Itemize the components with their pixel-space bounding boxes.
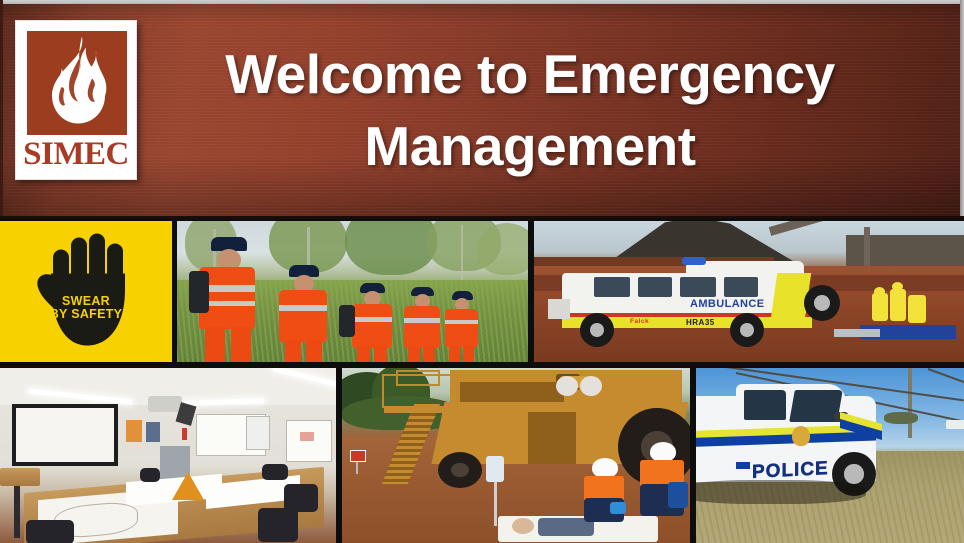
image-gallery: SWEAR BY SAFETY: [0, 219, 964, 543]
worker-torso: [352, 304, 392, 348]
ambulance-wheel: [730, 313, 764, 347]
ambulance-window: [638, 277, 672, 297]
flame-icon: [38, 35, 116, 132]
rescue-worker: [349, 283, 397, 362]
spare-wheel: [804, 285, 840, 321]
safety-helmet: [650, 442, 676, 462]
worker-leg: [463, 345, 474, 362]
safety-poster-background: SWEAR BY SAFETY: [0, 221, 172, 362]
worker-leg: [306, 340, 322, 362]
worker-leg: [205, 327, 225, 362]
table-leg: [14, 486, 20, 538]
rescue-worker: [443, 291, 483, 362]
tree-shape: [345, 221, 437, 275]
gallery-item-mine-rescue-haul-truck: [342, 368, 690, 543]
ambulance-window: [680, 277, 716, 297]
sign-post: [356, 462, 358, 474]
backpack: [189, 271, 209, 313]
backpack: [339, 305, 355, 337]
gallery-item-swear-by-safety: SWEAR BY SAFETY: [0, 221, 172, 362]
simec-wordmark: SIMEC: [16, 137, 136, 171]
gallery-item-police-vehicle: POLICE: [696, 368, 964, 543]
hi-vis-band: [404, 318, 440, 323]
gallery-item-mine-site-ambulance: AMBULANCE HRA35 Falck: [534, 221, 964, 362]
warning-sign: [350, 450, 366, 462]
wall-poster: [126, 420, 142, 442]
ambulance-unit-id: HRA35: [686, 318, 715, 327]
police-badge: [792, 426, 810, 446]
medical-kit: [668, 482, 688, 508]
worker-leg: [285, 340, 301, 362]
safety-helmet: [592, 458, 618, 478]
handrail: [396, 370, 440, 386]
vehicle-shadow: [696, 480, 866, 504]
slide-title: Welcome to Emergency Management: [160, 22, 900, 197]
hand-stop-icon: [27, 229, 145, 354]
hi-vis-band: [445, 320, 478, 324]
conveyor-belt: [769, 221, 935, 236]
worker-leg: [357, 346, 370, 362]
distant-tree: [884, 412, 918, 424]
worker-leg: [423, 346, 435, 362]
simec-logo: SIMEC: [15, 20, 137, 180]
office-chair: [140, 468, 160, 482]
ceiling-projector: [148, 396, 182, 412]
slide-header: SIMEC Welcome to Emergency Management: [0, 0, 964, 219]
fire-extinguisher-sign: [182, 428, 187, 440]
hi-vis-band: [352, 317, 392, 322]
paramedic: [908, 295, 926, 323]
header-left-border: [0, 0, 3, 219]
ambulance-operator-logo: Falck: [630, 318, 649, 325]
power-line: [928, 368, 964, 411]
haul-truck-step-panel: [528, 412, 576, 464]
mine-site-scene: AMBULANCE HRA35 Falck: [534, 221, 964, 362]
worker-leg: [374, 346, 387, 362]
safety-slogan-line2: BY SAFETY: [50, 308, 123, 321]
cab-rear-window: [744, 390, 786, 420]
office-chair: [258, 508, 298, 542]
rescue-worker: [275, 265, 335, 362]
headlight: [580, 376, 602, 396]
mine-rescue-medic: [580, 458, 628, 522]
side-table: [0, 468, 40, 486]
distant-vehicle: [946, 420, 964, 429]
police-vehicle-scene: POLICE: [696, 368, 964, 543]
presentation-slide: SIMEC Welcome to Emergency Management: [0, 0, 964, 543]
worker-leg: [231, 327, 251, 362]
ambulance-lettering: AMBULANCE: [690, 298, 764, 310]
tree-trunk: [461, 225, 463, 283]
headlight: [556, 376, 578, 396]
wall-poster: [146, 422, 160, 442]
office-chair: [26, 520, 74, 543]
police-dash: [736, 462, 750, 469]
worker-torso: [404, 306, 440, 348]
header-top-border: [0, 0, 964, 4]
mine-rescue-scene: [342, 368, 690, 543]
notice-board: [160, 446, 190, 480]
worker-leg: [449, 345, 460, 362]
iv-bag: [486, 456, 504, 482]
stretcher-frame: [834, 329, 880, 337]
window-blinds: [246, 416, 270, 450]
safety-slogan: SWEAR BY SAFETY: [50, 295, 123, 321]
paramedic: [890, 289, 906, 321]
tree-shape: [477, 223, 528, 275]
light-bar: [682, 257, 706, 265]
ambulance-wheel: [580, 313, 614, 347]
rescue-worker: [193, 237, 265, 362]
casualty-head: [512, 518, 534, 534]
haul-truck-wheel: [438, 452, 482, 488]
rescue-worker: [401, 287, 445, 362]
ambulance-windscreen: [594, 277, 630, 297]
header-right-border: [960, 0, 964, 219]
helmet: [874, 287, 885, 296]
bull-bar: [548, 299, 570, 319]
simec-logo-flame-panel: [27, 31, 127, 135]
worker-torso: [279, 290, 327, 342]
office-chair: [262, 464, 288, 480]
worker-leg: [408, 346, 420, 362]
map-marking: [300, 432, 314, 441]
gallery-item-search-and-rescue-team: [177, 221, 528, 362]
platform: [384, 406, 460, 413]
map-on-wall: [292, 426, 328, 456]
projection-screen: [12, 404, 118, 466]
control-room-scene: [0, 368, 336, 543]
gloved-hand: [610, 502, 626, 514]
gallery-item-emergency-control-room: [0, 368, 336, 543]
paramedic: [872, 293, 888, 321]
bushland-scene: [177, 221, 528, 362]
helmet: [892, 282, 903, 291]
utility-pole: [908, 368, 912, 438]
mine-rescue-medic: [638, 442, 686, 516]
worker-torso: [445, 309, 478, 347]
header-bottom-border: [0, 216, 964, 219]
ambulance-window: [724, 277, 758, 297]
hi-vis-band: [279, 305, 327, 311]
